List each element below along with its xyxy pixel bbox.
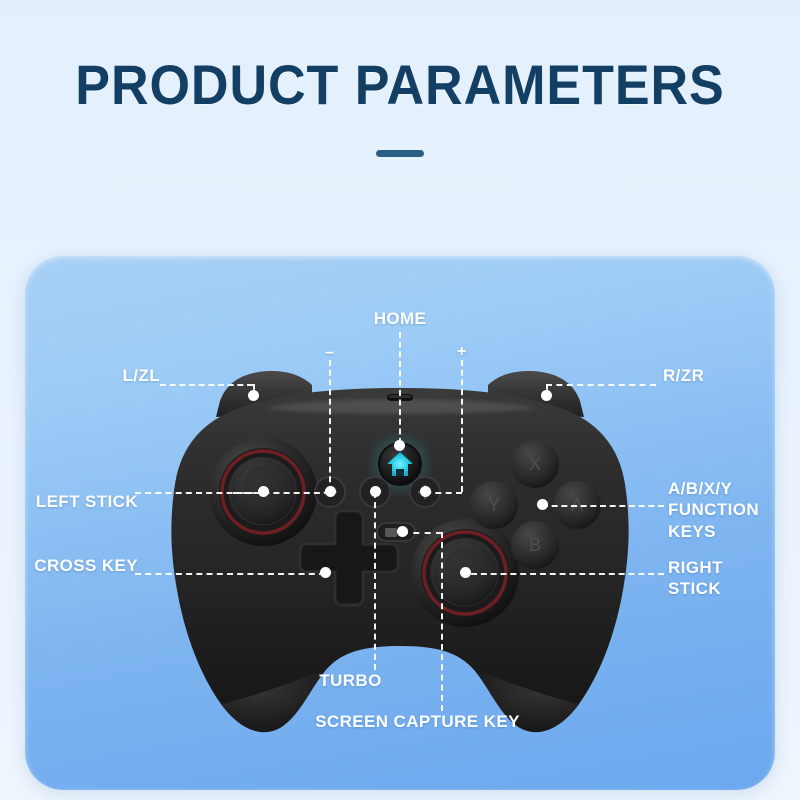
leader-cross-key-h bbox=[135, 573, 325, 575]
leader-turbo-v bbox=[374, 492, 376, 670]
svg-text:X: X bbox=[529, 454, 541, 474]
callout-cross-key: CROSS KEY bbox=[0, 555, 138, 576]
leader-capture-h bbox=[402, 532, 442, 534]
callout-lzl: L/ZL bbox=[20, 365, 160, 386]
leader-dot-abxy bbox=[537, 499, 548, 510]
leader-home-v bbox=[399, 332, 401, 444]
page-title: PRODUCT PARAMETERS bbox=[28, 52, 772, 117]
leader-dot-plus bbox=[420, 486, 431, 497]
title-divider bbox=[376, 150, 424, 157]
callout-turbo: TURBO bbox=[283, 670, 418, 691]
leader-dot-capture bbox=[397, 526, 408, 537]
svg-text:B: B bbox=[529, 535, 541, 555]
callout-home: HOME bbox=[340, 308, 460, 329]
leader-dot-minus bbox=[325, 486, 336, 497]
leader-minus-v bbox=[329, 360, 331, 492]
leader-dot-right-stick bbox=[460, 567, 471, 578]
page-header: PRODUCT PARAMETERS bbox=[0, 0, 800, 200]
callout-left-stick: LEFT STICK bbox=[0, 491, 138, 512]
plus-symbol: + bbox=[457, 344, 466, 360]
product-diagram-card: X Y A B T bbox=[25, 256, 775, 790]
leader-lzl-h bbox=[160, 384, 253, 386]
callout-rzr: R/ZR bbox=[663, 365, 783, 386]
leader-rzr-h bbox=[546, 384, 656, 386]
leader-right-stick-h bbox=[471, 573, 664, 575]
callout-right-stick: RIGHT STICK bbox=[668, 557, 798, 600]
leader-dot-cross-key bbox=[320, 567, 331, 578]
leader-dot-home bbox=[394, 440, 405, 451]
callout-abxy: A/B/X/Y FUNCTION KEYS bbox=[668, 478, 798, 542]
svg-text:Y: Y bbox=[488, 495, 500, 515]
leader-dot-rzr bbox=[541, 390, 552, 401]
leader-capture-v bbox=[441, 532, 443, 711]
leader-dot-lzl bbox=[248, 390, 259, 401]
leader-abxy-h bbox=[542, 505, 664, 507]
leader-dot-turbo bbox=[370, 486, 381, 497]
leader-dot-left-stick bbox=[258, 486, 269, 497]
leader-left-stick-h bbox=[135, 492, 263, 494]
leader-plus-v bbox=[461, 360, 463, 492]
callout-screen-capture: SCREEN CAPTURE KEY bbox=[290, 711, 545, 732]
minus-symbol: − bbox=[325, 346, 334, 362]
